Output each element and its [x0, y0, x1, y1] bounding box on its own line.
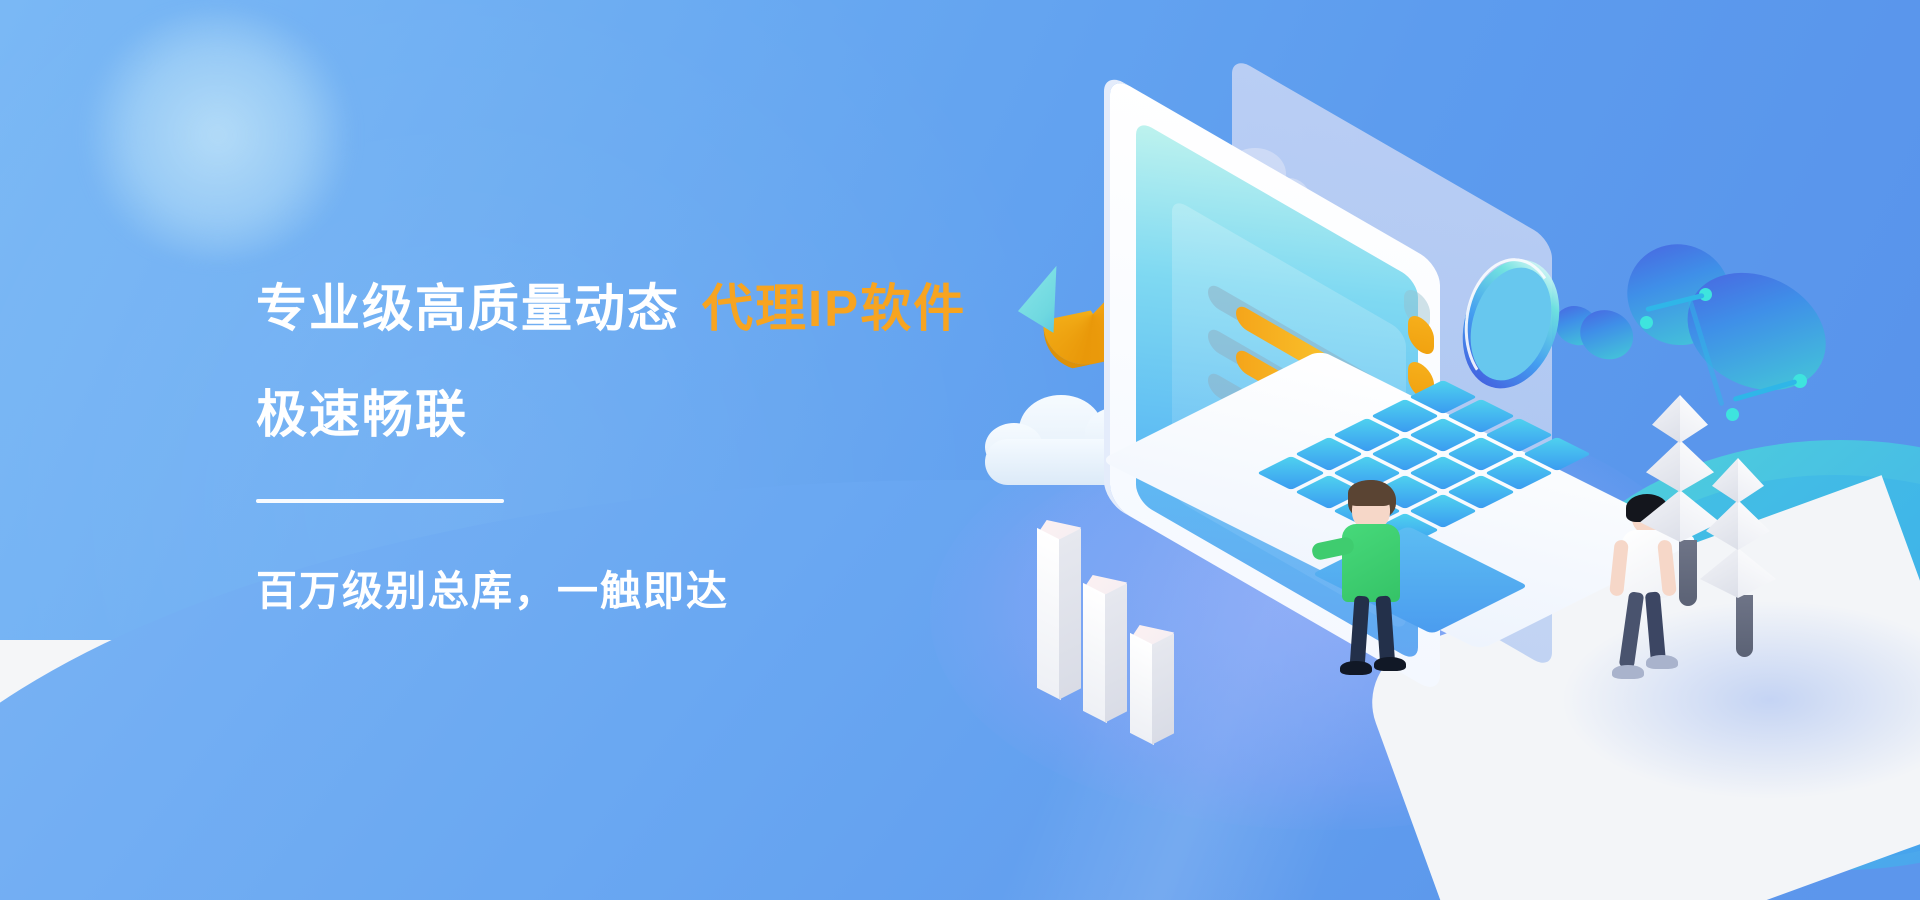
hero-banner: 专业级高质量动态代理IP软件 极速畅联 百万级别总库，一触即达: [0, 0, 1920, 900]
torso-green-person: [1342, 524, 1400, 602]
hero-copy-block: 专业级高质量动态代理IP软件 极速畅联 百万级别总库，一触即达: [256, 280, 1016, 617]
hero-subline: 百万级别总库，一触即达: [256, 557, 1016, 617]
headline-accent-text: 代理IP软件: [702, 280, 966, 337]
shoe-right-green-person: [1374, 657, 1406, 671]
headline-line-2: 极速畅联: [256, 373, 1016, 447]
headline-primary-text: 专业级高质量动态: [256, 280, 680, 337]
headline-divider: [256, 499, 504, 503]
shoe-left-white-person: [1612, 665, 1644, 679]
headline-line-1: 专业级高质量动态代理IP软件: [256, 280, 1016, 337]
shoe-left-green-person: [1340, 661, 1372, 675]
shoe-right-white-person: [1646, 655, 1678, 669]
hair-top-green-person: [1348, 480, 1392, 506]
